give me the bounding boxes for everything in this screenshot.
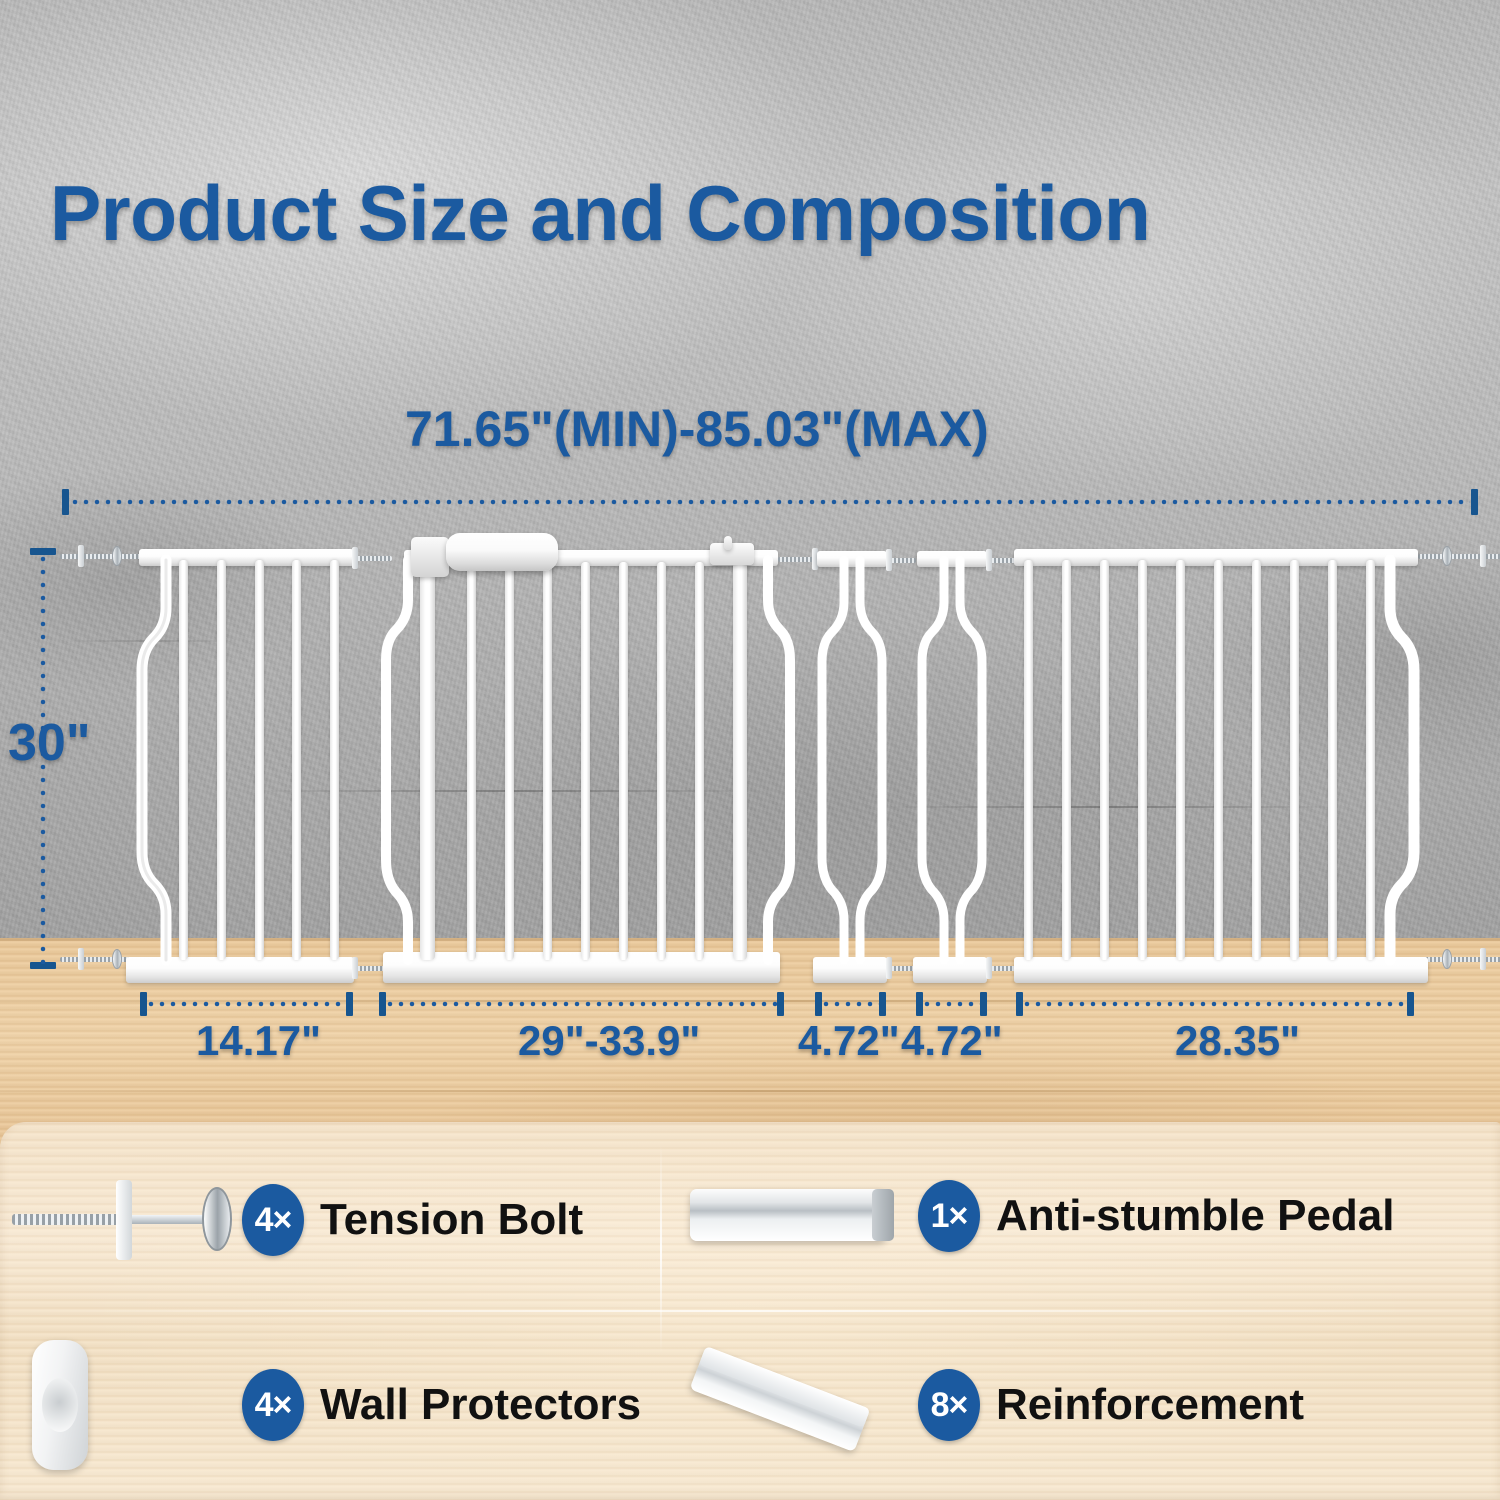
part-item: 1× Anti-stumble Pedal — [690, 1180, 1490, 1252]
gate-bar — [1138, 560, 1147, 960]
tension-bolt-icon — [1418, 948, 1500, 970]
part-label: Anti-stumble Pedal — [996, 1191, 1395, 1241]
door-latch-stile — [733, 562, 747, 960]
panel-right-frame-bar — [852, 560, 886, 960]
height-label: 30" — [8, 713, 91, 773]
segment-tick — [379, 992, 386, 1016]
panel-bottom-rail — [126, 957, 354, 983]
part-quantity-badge: 8× — [918, 1369, 980, 1441]
panel-bottom-rail — [813, 957, 887, 983]
tension-bolt-icon — [778, 548, 818, 570]
segment-label-4: 28.35" — [1175, 1017, 1300, 1065]
tension-bolt-icon — [886, 957, 916, 979]
part-quantity-badge: 1× — [918, 1180, 980, 1252]
height-tick-top — [30, 548, 56, 555]
gate-bar — [657, 562, 666, 960]
part-quantity-value: 8 — [931, 1386, 949, 1425]
door-left-frame-bar — [382, 560, 416, 960]
gate-bar — [467, 562, 476, 960]
gate-bar — [1328, 560, 1337, 960]
panel-left-frame-bar — [136, 560, 176, 960]
floor-plank-seam — [0, 1090, 1500, 1092]
panel-right-frame-bar — [1382, 560, 1422, 960]
gate-latch-catch[interactable] — [710, 543, 754, 565]
panel-bottom-rail — [1014, 957, 1428, 983]
gate-bar — [543, 562, 552, 960]
gate-bar — [1024, 560, 1033, 960]
panel-right-frame-bar — [952, 560, 986, 960]
door-hinge-stile — [420, 562, 435, 960]
gate-handle-lever[interactable] — [446, 533, 558, 571]
segment-tick — [879, 992, 886, 1016]
part-item: 8× Reinforcement — [690, 1340, 1490, 1470]
gate-bar — [330, 560, 339, 960]
tension-bolt-icon — [1418, 545, 1500, 567]
gate-bar — [179, 560, 188, 960]
gate-bar — [1100, 560, 1109, 960]
segment-tick — [980, 992, 987, 1016]
segment-tick — [346, 992, 353, 1016]
segment-tick — [777, 992, 784, 1016]
panel-bottom-rail — [913, 957, 987, 983]
part-quantity-value: 4 — [255, 1201, 273, 1240]
gate-bar — [217, 560, 226, 960]
part-quantity-multiplier: × — [273, 1201, 292, 1240]
door-right-frame-bar — [760, 560, 794, 960]
part-label: Reinforcement — [996, 1380, 1304, 1430]
segment-label-2: 4.72" — [798, 1017, 900, 1065]
overall-width-dimension-line — [72, 499, 1470, 505]
panel-left-frame-bar — [818, 560, 852, 960]
segment-tick — [916, 992, 923, 1016]
part-quantity-value: 1 — [931, 1197, 949, 1236]
gate-bar — [505, 562, 514, 960]
gate-bar — [1252, 560, 1261, 960]
gate-bar — [1214, 560, 1223, 960]
tension-bolt-icon — [886, 549, 916, 571]
gate-bar — [292, 560, 301, 960]
part-item: 4× Wall Protectors — [12, 1340, 652, 1470]
product-infographic: Product Size and Composition 71.65"(MIN)… — [0, 0, 1500, 1500]
segment-label-1: 29"-33.9" — [518, 1017, 700, 1065]
tension-bolt-icon — [986, 957, 1016, 979]
overall-width-tick-left — [62, 489, 69, 515]
segment-label-3: 4.72" — [901, 1017, 1003, 1065]
reinforcement-bracket-icon — [690, 1340, 918, 1470]
gate-handle-hub[interactable] — [411, 537, 449, 577]
anti-stumble-pedal-icon — [690, 1181, 918, 1251]
part-quantity-multiplier: × — [949, 1197, 968, 1236]
segment-tick — [140, 992, 147, 1016]
gate-bar — [619, 562, 628, 960]
segment-dimension-line — [1024, 1001, 1409, 1007]
overall-width-label: 71.65"(MIN)-85.03"(MAX) — [405, 400, 989, 458]
parts-list-panel: 4× Tension Bolt 1× Anti-stumble Pedal 4× — [0, 1122, 1500, 1500]
segment-dimension-line — [148, 1001, 348, 1007]
tension-bolt-icon — [352, 957, 384, 979]
segment-dimension-line — [924, 1001, 980, 1007]
tension-bolt-icon — [12, 1180, 242, 1260]
tension-bolt-icon — [60, 545, 146, 567]
panel-divider-horizontal — [0, 1310, 1500, 1312]
segment-tick — [815, 992, 822, 1016]
segment-tick — [1016, 992, 1023, 1016]
part-quantity-multiplier: × — [273, 1386, 292, 1425]
wall-protector-icon — [12, 1340, 242, 1470]
part-quantity-badge: 4× — [242, 1184, 304, 1256]
segment-label-0: 14.17" — [196, 1017, 321, 1065]
panel-divider-vertical — [660, 1144, 662, 1354]
page-title: Product Size and Composition — [50, 168, 1449, 259]
gate-latch-pin — [724, 536, 732, 550]
gate-bar — [255, 560, 264, 960]
part-label: Tension Bolt — [320, 1195, 583, 1245]
part-quantity-multiplier: × — [949, 1386, 968, 1425]
part-item: 4× Tension Bolt — [12, 1180, 652, 1260]
panel-left-frame-bar — [918, 560, 952, 960]
gate-bar — [695, 562, 704, 960]
segment-dimension-line — [387, 1001, 779, 1007]
gate-bar — [581, 562, 590, 960]
segment-dimension-line — [823, 1001, 879, 1007]
gate-bar — [1290, 560, 1299, 960]
segment-tick — [1407, 992, 1414, 1016]
part-label: Wall Protectors — [320, 1380, 641, 1430]
part-quantity-badge: 4× — [242, 1369, 304, 1441]
gate-bar — [1366, 560, 1375, 960]
gate-bar — [1062, 560, 1071, 960]
overall-width-tick-right — [1471, 489, 1478, 515]
gate-bar — [1176, 560, 1185, 960]
part-quantity-value: 4 — [255, 1386, 273, 1425]
tension-bolt-icon — [986, 549, 1016, 571]
